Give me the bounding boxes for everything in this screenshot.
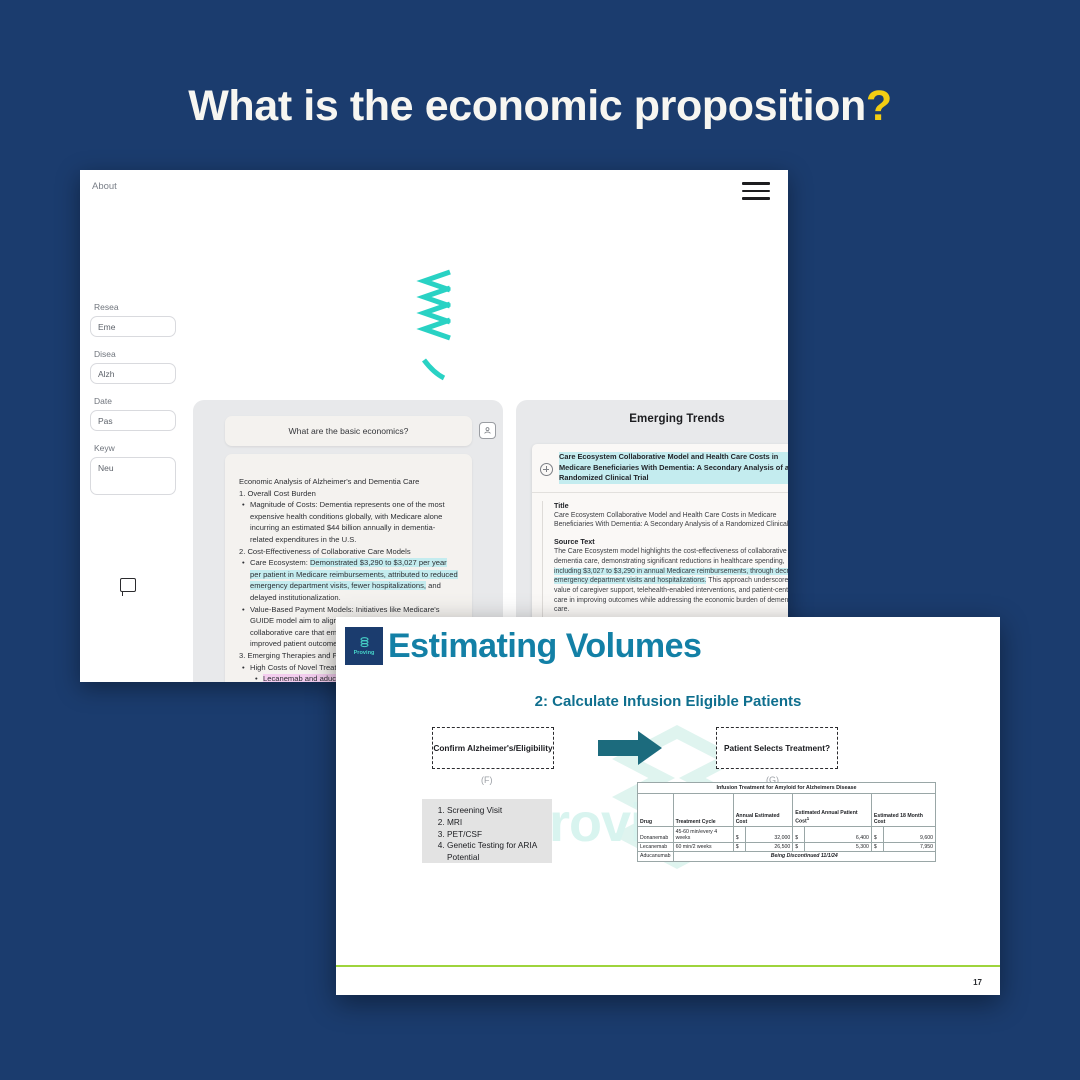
about-link[interactable]: About xyxy=(92,181,117,192)
flow-box-confirm-eligibility[interactable]: Confirm Alzheimer's/Eligibility xyxy=(432,727,554,769)
table-caption: Infusion Treatment for Amyloid for Alzhe… xyxy=(638,783,936,794)
presentation-slide-window: Proving Estimating Volumes 2: Calculate … xyxy=(336,617,1000,995)
cell-currency: $ xyxy=(871,842,883,851)
cell-18-month-cost: 9,600 xyxy=(883,827,935,842)
list-item: Screening Visit xyxy=(447,805,546,817)
infusion-treatment-table: Infusion Treatment for Amyloid for Alzhe… xyxy=(637,782,936,862)
trend-card-title: Care Ecosystem Collaborative Model and H… xyxy=(559,452,788,484)
filter-label-1: Disea xyxy=(94,349,176,359)
checklist-items: Screening Visit MRI PET/CSF Genetic Test… xyxy=(431,805,546,864)
hamburger-menu-icon[interactable] xyxy=(742,182,770,200)
answer-bullet: Magnitude of Costs: Dementia represents … xyxy=(250,499,458,545)
table-row: Donanemab 45-60 min/every 4 weeks $ 32,0… xyxy=(638,827,936,842)
cell-cycle: 45-60 min/every 4 weeks xyxy=(673,827,733,842)
research-app-window: About Resea Eme Disea Alzh Date Pas Keyw… xyxy=(80,170,788,682)
cell-currency: $ xyxy=(733,827,745,842)
cell-drug: Lecanemab xyxy=(638,842,674,851)
page-title-question-mark: ? xyxy=(866,82,892,130)
field-label-source: Source Text xyxy=(554,537,788,546)
source-lead: The Care Ecosystem model highlights the … xyxy=(554,548,787,565)
cell-currency: $ xyxy=(793,827,805,842)
answer-title: Economic Analysis of Alzheimer's and Dem… xyxy=(239,476,458,488)
column-header-treatment-cycle: Treatment Cycle xyxy=(673,794,733,827)
app-top-bar: About xyxy=(80,170,788,208)
filter-label-2: Date xyxy=(94,396,176,406)
filter-label-3: Keyw xyxy=(94,443,176,453)
page-title-text: What is the economic proposition xyxy=(188,82,866,130)
trends-panel-title: Emerging Trends xyxy=(516,400,788,425)
column-header-annual-estimated-cost: Annual Estimated Cost xyxy=(733,794,793,827)
slide-heading: Estimating Volumes xyxy=(388,627,701,666)
filter-input-3[interactable]: Neu xyxy=(90,457,176,495)
cell-annual-cost: 32,000 xyxy=(745,827,793,842)
filter-sidebar: Resea Eme Disea Alzh Date Pas Keyw Neu xyxy=(90,302,176,507)
page-title: What is the economic proposition? xyxy=(0,82,1080,131)
bullet-lead: Care Ecosystem: xyxy=(250,558,310,567)
list-item: Genetic Testing for ARIA Potential xyxy=(447,840,546,864)
cell-currency: $ xyxy=(733,842,745,851)
col4-text: Estimated Annual Patient Cost xyxy=(795,810,857,825)
answer-section-heading-2: 2. Cost-Effectiveness of Collaborative C… xyxy=(239,546,458,558)
filter-input-0[interactable]: Eme xyxy=(90,316,176,337)
trend-card-header[interactable]: Care Ecosystem Collaborative Model and H… xyxy=(532,444,788,493)
note-comment-icon[interactable] xyxy=(120,578,136,592)
cell-patient-cost: 6,400 xyxy=(805,827,872,842)
table-header-row: Drug Treatment Cycle Annual Estimated Co… xyxy=(638,794,936,827)
cell-patient-cost: 5,300 xyxy=(805,842,872,851)
cell-annual-cost: 26,500 xyxy=(745,842,793,851)
plus-circle-icon[interactable] xyxy=(540,463,553,476)
infusion-treatment-table-wrapper: Infusion Treatment for Amyloid for Alzhe… xyxy=(637,782,936,862)
answer-section-heading-1: 1. Overall Cost Burden xyxy=(239,488,458,500)
cell-discontinued-note: Being Discontinued 11/1/24 xyxy=(673,852,935,861)
user-avatar-icon[interactable] xyxy=(479,422,496,439)
column-header-drug: Drug xyxy=(638,794,674,827)
cell-drug: Donanemab xyxy=(638,827,674,842)
cell-currency: $ xyxy=(793,842,805,851)
field-label-title: Title xyxy=(554,501,788,510)
right-arrow-icon xyxy=(598,729,664,772)
slide-subheading: 2: Calculate Infusion Eligible Patients xyxy=(336,693,1000,710)
teal-chevron-decoration xyxy=(410,268,456,388)
list-item: MRI xyxy=(447,817,546,829)
flow-box-patient-selects-treatment[interactable]: Patient Selects Treatment? xyxy=(716,727,838,769)
slide-footer-rule xyxy=(336,965,1000,967)
cell-currency: $ xyxy=(871,827,883,842)
column-header-estimated-annual-patient-cost: Estimated Annual Patient Cost1 xyxy=(793,794,872,827)
column-header-estimated-18-month-cost: Estimated 18 Month Cost xyxy=(871,794,935,827)
slide-page-number: 17 xyxy=(973,978,982,987)
proving-logo-text: Proving xyxy=(354,650,375,656)
col4-superscript: 1 xyxy=(807,816,809,821)
cell-18-month-cost: 7,950 xyxy=(883,842,935,851)
chat-question-bubble: What are the basic economics? xyxy=(225,416,472,446)
flow-tag-f: (F) xyxy=(481,775,493,785)
cell-drug: Aducanumab xyxy=(638,852,674,861)
screening-checklist: Screening Visit MRI PET/CSF Genetic Test… xyxy=(422,799,552,863)
field-value-source: The Care Ecosystem model highlights the … xyxy=(554,547,788,615)
filter-input-1[interactable]: Alzh xyxy=(90,363,176,384)
filter-label-0: Resea xyxy=(94,302,176,312)
answer-bullet-highlighted: Care Ecosystem: Demonstrated $3,290 to $… xyxy=(250,557,458,603)
filter-input-2[interactable]: Pas xyxy=(90,410,176,431)
table-row: Lecanemab 60 min/2 weeks $ 26,500 $ 5,30… xyxy=(638,842,936,851)
stacked-layers-icon xyxy=(358,636,371,649)
proving-logo: Proving xyxy=(345,627,383,665)
cell-cycle: 60 min/2 weeks xyxy=(673,842,733,851)
table-row: Aducanumab Being Discontinued 11/1/24 xyxy=(638,852,936,861)
field-value-title: Care Ecosystem Collaborative Model and H… xyxy=(554,511,788,530)
list-item: PET/CSF xyxy=(447,829,546,841)
